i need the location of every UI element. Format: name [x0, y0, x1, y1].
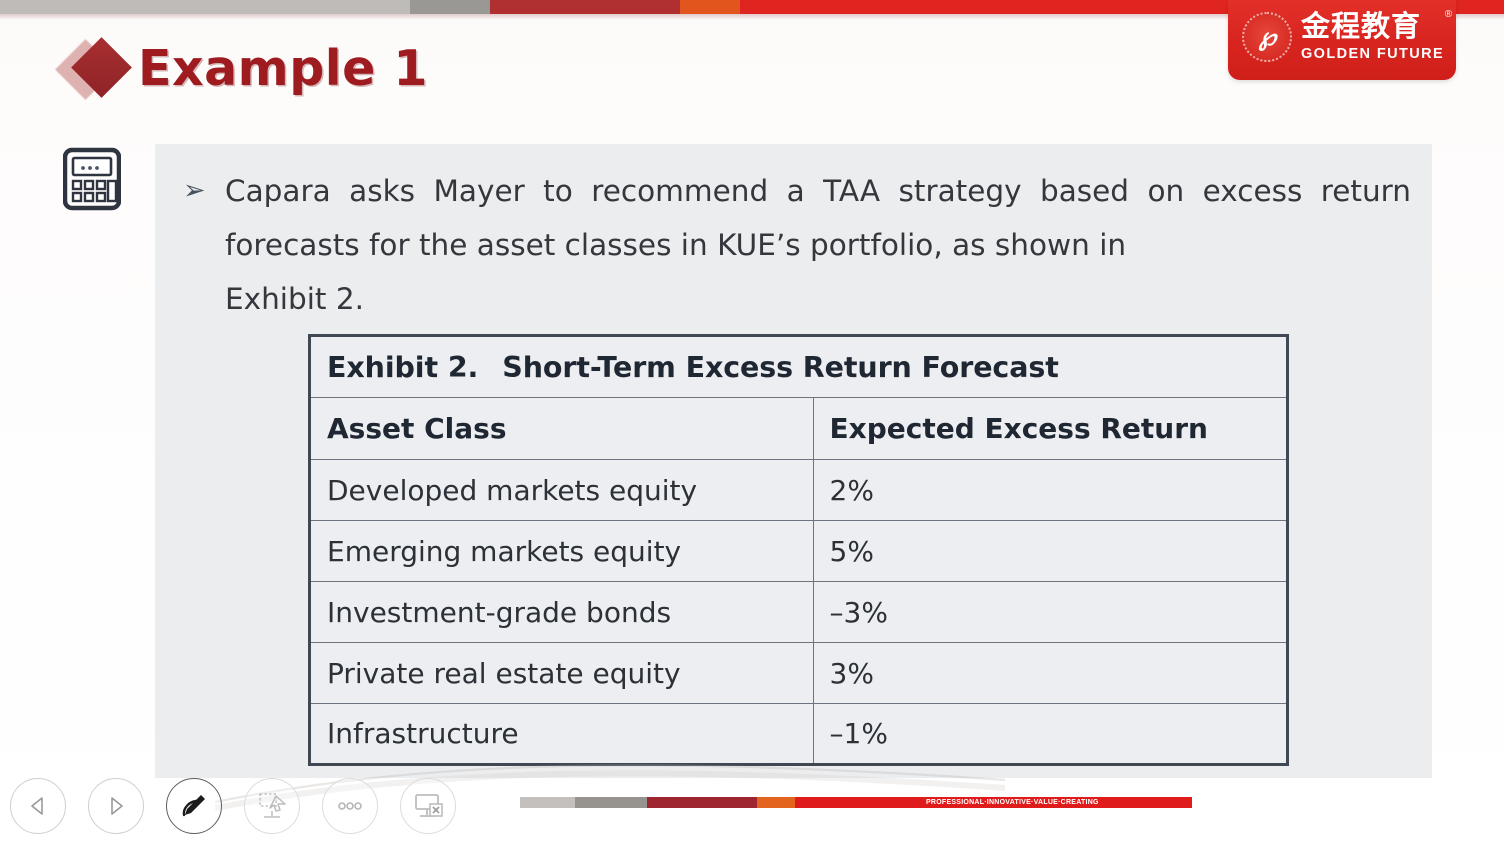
table-row: Infrastructure –1%: [310, 704, 1288, 765]
exhibit-header-row: Asset Class Expected Excess Return: [310, 398, 1288, 460]
cell-expected-excess-return: –3%: [813, 582, 1287, 643]
body-paragraph: Capara asks Mayer to recommend a TAA str…: [225, 164, 1411, 326]
presentation-slide: ℘ 金程教育® GOLDEN FUTURE Example 1: [0, 0, 1504, 846]
cell-asset-class: Infrastructure: [310, 704, 814, 765]
ellipsis-icon: [335, 799, 365, 813]
footer-segment-trailing-red: [1105, 797, 1192, 808]
exhibit-number-label: Exhibit 2.: [327, 351, 478, 384]
logo-chinese-name: 金程教育®: [1301, 13, 1444, 42]
footer-segment-light-gray: [520, 797, 575, 808]
calculator-icon: [63, 147, 121, 211]
previous-slide-button[interactable]: [10, 778, 66, 834]
slideshow-toolbar[interactable]: [10, 778, 456, 834]
logo-english-name: GOLDEN FUTURE: [1301, 47, 1444, 62]
cell-asset-class: Emerging markets equity: [310, 521, 814, 582]
brand-logo: ℘ 金程教育® GOLDEN FUTURE: [1228, 0, 1456, 80]
footer-segment-orange: [757, 797, 795, 808]
triangle-left-icon: [26, 794, 50, 818]
next-slide-button[interactable]: [88, 778, 144, 834]
cell-expected-excess-return: 2%: [813, 460, 1287, 521]
table-row: Private real estate equity 3%: [310, 643, 1288, 704]
arrow-bullet-icon: ➢: [183, 164, 225, 326]
exhibit-title-cell: Exhibit 2.Short-Term Excess Return Forec…: [310, 336, 1288, 398]
cell-asset-class: Investment-grade bonds: [310, 582, 814, 643]
footer-tagline: PROFESSIONAL·INNOVATIVE·VALUE·CREATING: [920, 797, 1105, 808]
cell-asset-class: Private real estate equity: [310, 643, 814, 704]
body-paragraph-lastline: Exhibit 2.: [225, 272, 1411, 326]
topbar-segment-light-gray: [0, 0, 410, 14]
logo-seal-icon: ℘: [1242, 12, 1292, 62]
table-row: Developed markets equity 2%: [310, 460, 1288, 521]
topbar-segment-dark-red: [490, 0, 680, 14]
cell-asset-class: Developed markets equity: [310, 460, 814, 521]
pen-icon: [179, 791, 209, 821]
logo-chinese-label: 金程教育: [1301, 11, 1421, 43]
table-row: Investment-grade bonds –3%: [310, 582, 1288, 643]
exhibit-title-row: Exhibit 2.Short-Term Excess Return Forec…: [310, 336, 1288, 398]
bullet-paragraph-row: ➢ Capara asks Mayer to recommend a TAA s…: [183, 164, 1411, 326]
topbar-segment-orange: [680, 0, 740, 14]
cell-expected-excess-return: 5%: [813, 521, 1287, 582]
registered-mark-icon: ®: [1445, 10, 1453, 20]
cell-expected-excess-return: 3%: [813, 643, 1287, 704]
column-header-asset-class: Asset Class: [310, 398, 814, 460]
footer-segment-dark-red: [647, 797, 757, 808]
page-title: Example 1: [138, 44, 428, 93]
end-show-icon: [412, 790, 444, 822]
table-row: Emerging markets equity 5%: [310, 521, 1288, 582]
end-slideshow-button[interactable]: [400, 778, 456, 834]
triangle-right-icon: [104, 794, 128, 818]
footer-segment-bright-red: [795, 797, 920, 808]
footer-segment-medium-gray: [575, 797, 647, 808]
body-paragraph-main: Capara asks Mayer to recommend a TAA str…: [225, 174, 1411, 262]
content-panel: ➢ Capara asks Mayer to recommend a TAA s…: [155, 144, 1432, 778]
exhibit-title-text: Short-Term Excess Return Forecast: [502, 351, 1058, 384]
logo-text: 金程教育® GOLDEN FUTURE: [1301, 13, 1444, 62]
diamond-bullet-icon: [62, 36, 138, 100]
footer-stripe: PROFESSIONAL·INNOVATIVE·VALUE·CREATING: [520, 797, 1192, 808]
laser-pointer-icon: [256, 790, 288, 822]
pointer-tool-button[interactable]: [244, 778, 300, 834]
pen-tool-button[interactable]: [166, 778, 222, 834]
exhibit-table: Exhibit 2.Short-Term Excess Return Forec…: [308, 334, 1289, 766]
column-header-expected-excess-return: Expected Excess Return: [813, 398, 1287, 460]
topbar-segment-medium-gray: [410, 0, 490, 14]
more-options-button[interactable]: [322, 778, 378, 834]
slide-heading: Example 1: [62, 36, 428, 100]
cell-expected-excess-return: –1%: [813, 704, 1287, 765]
